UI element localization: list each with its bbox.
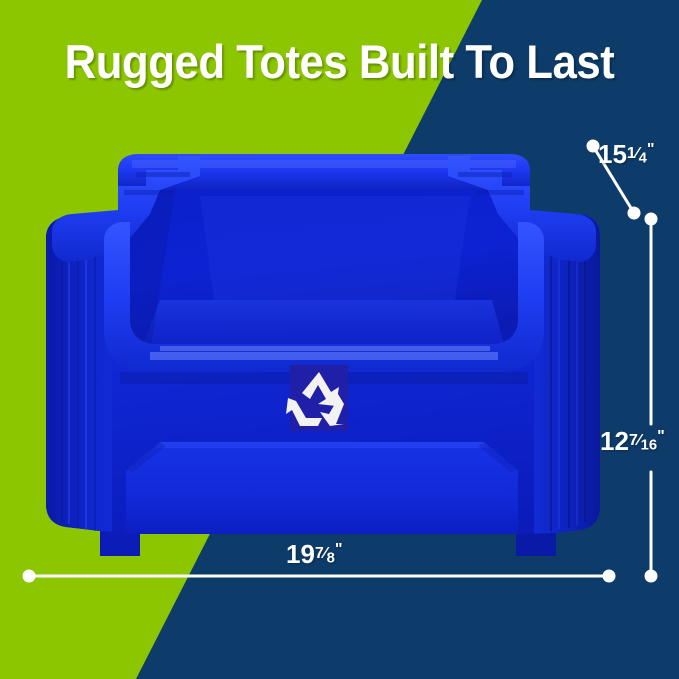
page-title: Rugged Totes Built To Last <box>24 38 655 85</box>
width-dimension-label: 197⁄8" <box>286 541 341 568</box>
depth-fraction: 1⁄4 <box>627 145 647 167</box>
width-unit: " <box>335 540 342 558</box>
depth-numerator: 1 <box>627 144 636 162</box>
height-whole: 12 <box>600 426 629 456</box>
height-fraction: 7⁄16 <box>629 432 657 454</box>
height-numerator: 7 <box>629 431 638 449</box>
dimension-lines-layer <box>0 0 679 679</box>
height-unit: " <box>657 427 664 445</box>
height-line-endpoint-bottom <box>646 571 656 581</box>
height-line-endpoint-top <box>646 214 656 224</box>
width-line-endpoint-left <box>24 571 34 581</box>
height-denominator: 16 <box>641 438 658 454</box>
width-line-endpoint-right <box>604 571 614 581</box>
product-image-canvas: Rugged Totes Built To Last <box>0 0 679 679</box>
width-fraction: 7⁄8 <box>315 545 335 567</box>
depth-unit: " <box>647 140 654 158</box>
depth-line-endpoint-bottom <box>629 208 639 218</box>
depth-line-endpoint-top <box>588 141 598 151</box>
width-whole: 19 <box>286 539 315 569</box>
depth-whole: 15 <box>598 139 627 169</box>
height-dimension-label: 127⁄16" <box>600 428 664 455</box>
width-denominator: 8 <box>327 551 335 567</box>
depth-dimension-label: 151⁄4" <box>598 141 653 168</box>
width-numerator: 7 <box>315 544 324 562</box>
depth-denominator: 4 <box>639 151 647 167</box>
